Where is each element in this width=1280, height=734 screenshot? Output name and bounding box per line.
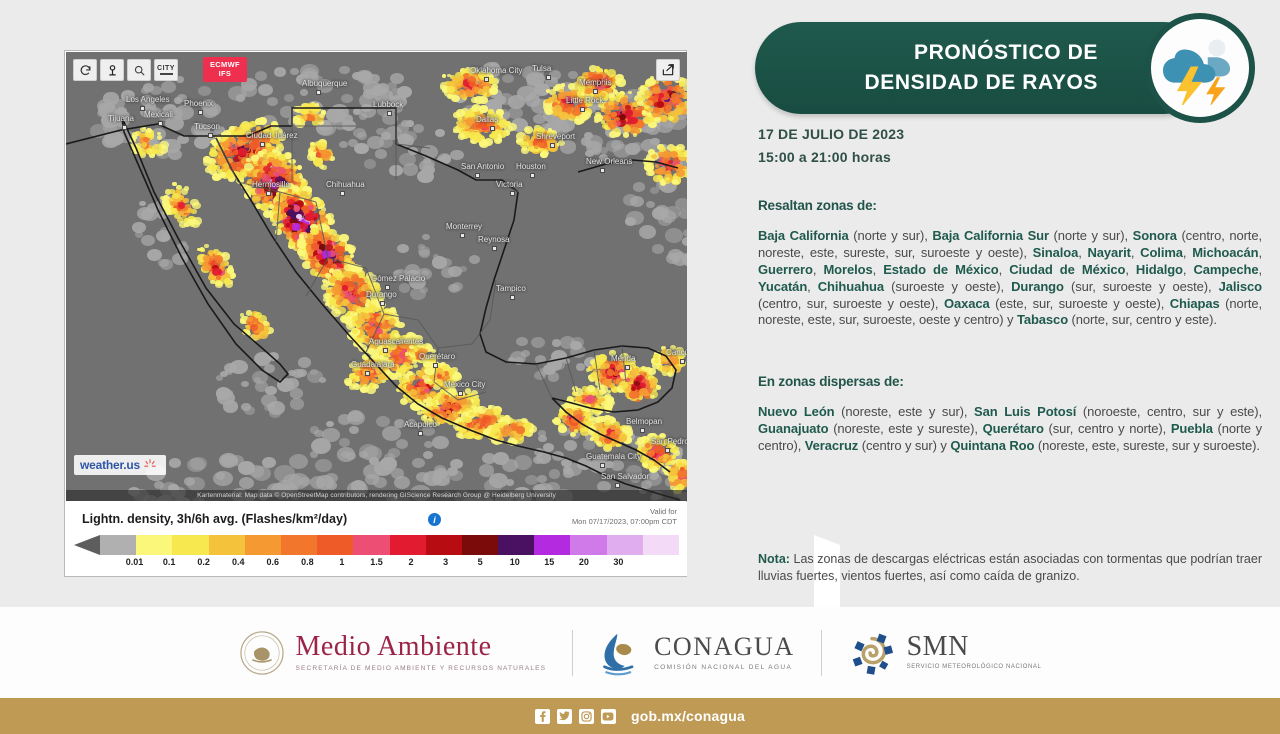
legend-area: Lightn. density, 3h/6h avg. (Flashes/km²… xyxy=(66,502,687,576)
city-dot xyxy=(158,121,163,126)
lightning-density-map-panel: CITY ECMWF IFS weather.us xyxy=(64,50,687,577)
header-banner: PRONÓSTICO DE DENSIDAD DE RAYOS xyxy=(755,22,1210,114)
legend-tick: 1.5 xyxy=(370,557,383,567)
refresh-button[interactable] xyxy=(73,59,97,81)
conagua-text: CONAGUA COMISIÓN NACIONAL DEL AGUA xyxy=(654,634,795,671)
legend-tick: 20 xyxy=(579,557,589,567)
city-label: Reynosa xyxy=(478,235,510,244)
city-label: Tucson xyxy=(194,122,220,131)
city-dot xyxy=(492,246,497,251)
city-dot xyxy=(383,348,388,353)
weather-us-watermark: weather.us xyxy=(74,455,166,475)
city-label: Tulsa xyxy=(532,64,551,73)
city-label: Tijuana xyxy=(108,114,134,123)
city-dot xyxy=(600,463,605,468)
header-title: PRONÓSTICO DE DENSIDAD DE RAYOS xyxy=(865,38,1098,99)
city-underline xyxy=(160,73,173,75)
header-title-line2: DENSIDAD DE RAYOS xyxy=(865,68,1098,98)
smn-text: SMN SERVICIO METEOROLÓGICO NACIONAL xyxy=(907,633,1042,672)
legend-tick: 0.01 xyxy=(126,557,144,567)
city-dot xyxy=(625,365,630,370)
legend-tick: 10 xyxy=(510,557,520,567)
city-dot xyxy=(600,168,605,173)
city-label: Mérida xyxy=(611,354,635,363)
legend-band-1 xyxy=(136,535,172,555)
forecast-time: 15:00 a 21:00 horas xyxy=(758,149,891,165)
share-button[interactable] xyxy=(656,59,680,81)
legend-tick: 3 xyxy=(443,557,448,567)
legend-band-10 xyxy=(462,535,498,555)
city-label: Houston xyxy=(516,162,546,171)
city-dot xyxy=(316,90,321,95)
medio-ambiente-text: Medio Ambiente SECRETARÍA DE MEDIO AMBIE… xyxy=(296,633,547,672)
city-dot xyxy=(490,126,495,131)
legend-color-scale xyxy=(74,535,679,555)
watermark-burst-icon xyxy=(142,458,158,472)
legend-band-7 xyxy=(353,535,389,555)
conagua-water-icon xyxy=(599,630,643,676)
city-label: Acapulco xyxy=(404,420,437,429)
valid-for-label: Valid for xyxy=(572,507,677,517)
legend-tick: 30 xyxy=(613,557,623,567)
city-dot xyxy=(418,431,423,436)
scale-bands xyxy=(100,535,679,555)
facebook-icon[interactable] xyxy=(535,709,550,724)
city-dot xyxy=(550,143,555,148)
city-dot xyxy=(365,371,370,376)
thunderstorm-cloud-icon xyxy=(1145,13,1255,123)
city-dot xyxy=(510,295,515,300)
city-label: Guatemala City xyxy=(586,452,641,461)
city-dot xyxy=(546,75,551,80)
city-dot xyxy=(387,111,392,116)
forecast-note: Nota: Las zonas de descargas eléctricas … xyxy=(758,551,1262,584)
social-bar: gob.mx/conagua xyxy=(0,698,1280,734)
highlight-zones-text: Baja California (norte y sur), Baja Cali… xyxy=(758,228,1262,329)
legend-tick: 5 xyxy=(478,557,483,567)
city-dot xyxy=(433,363,438,368)
scale-left-cap xyxy=(74,535,100,555)
legend-band-9 xyxy=(426,535,462,555)
youtube-icon[interactable] xyxy=(601,709,616,724)
medio-ambiente-name: Medio Ambiente xyxy=(296,633,547,661)
valid-for-value: Mon 07/17/2023, 07:00pm CDT xyxy=(572,517,677,527)
city-toggle-button[interactable]: CITY xyxy=(154,59,178,81)
disperse-heading: En zonas dispersas de: xyxy=(758,374,904,389)
legend-band-6 xyxy=(317,535,353,555)
city-dot xyxy=(340,191,345,196)
city-label: Gómez Palacio xyxy=(371,274,425,283)
medio-ambiente-subtitle: SECRETARÍA DE MEDIO AMBIENTE Y RECURSOS … xyxy=(296,665,547,672)
city-label: Little Rock xyxy=(566,96,603,105)
city-label: Monterrey xyxy=(446,222,482,231)
info-icon[interactable]: i xyxy=(428,513,441,526)
valid-for-block: Valid for Mon 07/17/2023, 07:00pm CDT xyxy=(572,507,677,527)
instagram-icon[interactable] xyxy=(579,709,594,724)
legend-band-13 xyxy=(570,535,606,555)
city-label: Lubbock xyxy=(373,100,403,109)
model-badge[interactable]: ECMWF IFS xyxy=(203,57,247,82)
forecast-text-panel: PRONÓSTICO DE DENSIDAD DE RAYOS 17 DE JU… xyxy=(740,0,1280,607)
legend-band-4 xyxy=(245,535,281,555)
city-label: Oklahoma City xyxy=(470,66,522,75)
logo-divider-2 xyxy=(821,630,822,676)
legend-band-2 xyxy=(172,535,208,555)
twitter-icon[interactable] xyxy=(557,709,572,724)
highlight-heading: Resaltan zonas de: xyxy=(758,198,877,213)
city-dot xyxy=(380,301,385,306)
legend-tick: 0.8 xyxy=(301,557,314,567)
legend-band-11 xyxy=(498,535,534,555)
city-label: San Pedro Sula xyxy=(651,437,687,446)
city-dot xyxy=(580,107,585,112)
model-badge-line2: IFS xyxy=(210,70,240,79)
map-toolbar[interactable]: CITY xyxy=(73,59,178,81)
legend-band-14 xyxy=(607,535,643,555)
city-label: Mexicali xyxy=(144,110,173,119)
smn-spiral-icon xyxy=(848,629,896,677)
medio-ambiente-logo: Medio Ambiente SECRETARÍA DE MEDIO AMBIE… xyxy=(239,630,547,676)
city-label: Aguascalientes xyxy=(369,337,423,346)
legend-band-0 xyxy=(100,535,136,555)
legend-tick: 0.6 xyxy=(267,557,280,567)
legend-tick: 15 xyxy=(544,557,554,567)
smn-logo: SMN SERVICIO METEOROLÓGICO NACIONAL xyxy=(848,629,1042,677)
smn-name: SMN xyxy=(907,633,1042,661)
legend-tick: 2 xyxy=(409,557,414,567)
legend-tick: 0.4 xyxy=(232,557,245,567)
legend-band-12 xyxy=(534,535,570,555)
city-label: Memphis xyxy=(579,78,611,87)
city-label: Querétaro xyxy=(419,352,455,361)
map-attribution: Kartenmaterial: Map data © OpenStreetMap… xyxy=(66,490,687,501)
logo-divider-1 xyxy=(572,630,573,676)
city-dot xyxy=(615,483,620,488)
city-label: Mexico City xyxy=(444,380,485,389)
legend-band-5 xyxy=(281,535,317,555)
legend-band-15 xyxy=(643,535,679,555)
city-label: Hermosillo xyxy=(252,180,290,189)
smn-subtitle: SERVICIO METEOROLÓGICO NACIONAL xyxy=(907,664,1042,672)
conagua-name: CONAGUA xyxy=(654,634,795,660)
forecast-date: 17 DE JULIO DE 2023 xyxy=(758,126,904,142)
city-dot xyxy=(122,125,127,130)
city-label: Phoenix xyxy=(184,99,213,108)
legend-tick: 0.2 xyxy=(197,557,210,567)
header-title-line1: PRONÓSTICO DE xyxy=(865,38,1098,68)
city-label: San Antonio xyxy=(461,162,504,171)
zoom-search-button[interactable] xyxy=(127,59,151,81)
city-label: San Salvador xyxy=(601,472,649,481)
city-label: Belmopan xyxy=(626,417,662,426)
legend-tick-labels: 0.010.10.20.40.60.811.523510152030 xyxy=(74,557,679,571)
forecast-infographic: CITY ECMWF IFS weather.us xyxy=(0,0,1280,734)
city-dot xyxy=(680,359,685,364)
city-label: Guadalajara xyxy=(351,360,395,369)
city-dot xyxy=(510,191,515,196)
location-pin-button[interactable] xyxy=(100,59,124,81)
city-dot xyxy=(458,391,463,396)
city-label: Los Angeles xyxy=(126,95,170,104)
city-label: Tampico xyxy=(496,284,526,293)
city-label: Ciudad Juárez xyxy=(246,131,298,140)
legend-band-3 xyxy=(209,535,245,555)
legend-title: Lightn. density, 3h/6h avg. (Flashes/km²… xyxy=(82,512,347,526)
mexico-eagle-seal-icon xyxy=(239,630,285,676)
social-url: gob.mx/conagua xyxy=(631,708,745,724)
city-dot xyxy=(460,233,465,238)
city-dot xyxy=(593,89,598,94)
watermark-label: weather.us xyxy=(80,458,140,472)
city-dot xyxy=(475,173,480,178)
city-label: Shreveport xyxy=(536,132,575,141)
disperse-zones-text: Nuevo León (noreste, este y sur), San Lu… xyxy=(758,404,1262,455)
city-dot xyxy=(640,428,645,433)
city-dot xyxy=(530,173,535,178)
city-label: Chihuahua xyxy=(326,180,365,189)
legend-band-8 xyxy=(390,535,426,555)
city-dot xyxy=(665,448,670,453)
city-toggle-label: CITY xyxy=(157,65,175,72)
city-label: Durango xyxy=(366,290,397,299)
city-label: New Orleans xyxy=(586,157,632,166)
legend-tick: 0.1 xyxy=(163,557,176,567)
city-dot xyxy=(260,142,265,147)
conagua-subtitle: COMISIÓN NACIONAL DEL AGUA xyxy=(654,664,795,671)
city-dot xyxy=(198,110,203,115)
city-label: Cancún xyxy=(666,348,687,357)
conagua-logo: CONAGUA COMISIÓN NACIONAL DEL AGUA xyxy=(599,630,795,676)
city-dot xyxy=(484,77,489,82)
footer-logos: Medio Ambiente SECRETARÍA DE MEDIO AMBIE… xyxy=(0,607,1280,698)
city-label: Dallas xyxy=(476,115,498,124)
city-label: Albuquerque xyxy=(302,79,347,88)
city-dot xyxy=(208,133,213,138)
city-dot xyxy=(266,191,271,196)
map-canvas[interactable]: CITY ECMWF IFS weather.us xyxy=(66,52,687,501)
city-label: Victoria xyxy=(496,180,523,189)
legend-tick: 1 xyxy=(339,557,344,567)
